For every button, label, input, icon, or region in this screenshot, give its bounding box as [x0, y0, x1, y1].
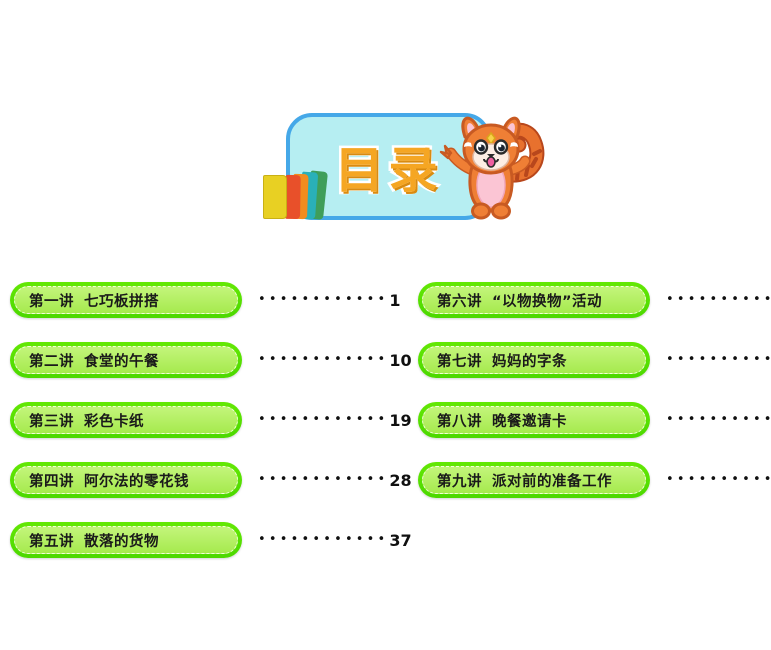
- toc-entry-title: 妈妈的字条: [492, 354, 567, 370]
- toc-pill[interactable]: 第六讲“以物换物”活动: [418, 282, 650, 318]
- toc-entry[interactable]: 第七讲妈妈的字条 •••••••••••• 55: [418, 330, 771, 390]
- toc-entry[interactable]: 第一讲七巧板拼搭 •••••••••••• 1: [10, 270, 370, 330]
- leader-dots: ••••••••••••: [258, 533, 388, 546]
- toc-lecture-number: 第一讲: [29, 294, 74, 310]
- toc-lecture-number: 第九讲: [437, 474, 482, 490]
- toc-leader: •••••••••••• 37: [258, 522, 412, 558]
- toc-leader: •••••••••••• 1: [258, 282, 401, 318]
- header-banner: 目录: [0, 95, 771, 240]
- toc-page-number: 19: [389, 411, 411, 430]
- book-yellow-icon: [263, 175, 287, 219]
- toc-entry[interactable]: 第二讲食堂的午餐 •••••••••••• 10: [10, 330, 370, 390]
- toc-lecture-number: 第五讲: [29, 534, 74, 550]
- toc-pill[interactable]: 第九讲派对前的准备工作: [418, 462, 650, 498]
- toc-page-number: 10: [389, 351, 411, 370]
- leader-dots: ••••••••••••: [666, 473, 771, 486]
- toc-entry-label: 第六讲“以物换物”活动: [437, 290, 602, 311]
- toc-entry-label: 第四讲阿尔法的零花钱: [29, 470, 189, 491]
- toc-entry[interactable]: 第九讲派对前的准备工作 •••••••••••• 73: [418, 450, 771, 510]
- red-panda-mascot-icon: [437, 105, 545, 225]
- page-root: 目录: [0, 0, 771, 650]
- toc-pill-inner: 第三讲彩色卡纸: [14, 406, 238, 434]
- toc-entry-label: 第一讲七巧板拼搭: [29, 290, 159, 311]
- toc-lecture-number: 第二讲: [29, 354, 74, 370]
- toc-entry-label: 第五讲散落的货物: [29, 530, 159, 551]
- toc-entry-label: 第三讲彩色卡纸: [29, 410, 144, 431]
- toc-pill-inner: 第七讲妈妈的字条: [422, 346, 646, 374]
- toc-entry-title: 晚餐邀请卡: [492, 414, 567, 430]
- toc-entry-title: 食堂的午餐: [84, 354, 159, 370]
- leader-dots: ••••••••••••: [666, 293, 771, 306]
- toc-pill[interactable]: 第三讲彩色卡纸: [10, 402, 242, 438]
- leader-dots: ••••••••••••: [258, 473, 388, 486]
- toc-pill-inner: 第五讲散落的货物: [14, 526, 238, 554]
- toc-entry-title: 七巧板拼搭: [84, 294, 159, 310]
- toc-pill-inner: 第六讲“以物换物”活动: [422, 286, 646, 314]
- toc-pill[interactable]: 第二讲食堂的午餐: [10, 342, 242, 378]
- toc-entry[interactable]: 第五讲散落的货物 •••••••••••• 37: [10, 510, 370, 570]
- toc-pill-inner: 第一讲七巧板拼搭: [14, 286, 238, 314]
- toc-pill-inner: 第四讲阿尔法的零花钱: [14, 466, 238, 494]
- leader-dots: ••••••••••••: [666, 413, 771, 426]
- toc-leader: •••••••••••• 10: [258, 342, 412, 378]
- toc-entry[interactable]: 第四讲阿尔法的零花钱 •••••••••••• 28: [10, 450, 370, 510]
- toc-leader: •••••••••••• 64: [666, 402, 771, 438]
- toc-leader: •••••••••••• 46: [666, 282, 771, 318]
- toc-entry-title: 散落的货物: [84, 534, 159, 550]
- toc-entry-title: 彩色卡纸: [84, 414, 144, 430]
- toc-pill-inner: 第二讲食堂的午餐: [14, 346, 238, 374]
- toc-leader: •••••••••••• 28: [258, 462, 412, 498]
- toc-pill[interactable]: 第八讲晚餐邀请卡: [418, 402, 650, 438]
- toc-entry-label: 第二讲食堂的午餐: [29, 350, 159, 371]
- toc-page-number: 1: [389, 291, 400, 310]
- toc-leader: •••••••••••• 55: [666, 342, 771, 378]
- leader-dots: ••••••••••••: [258, 293, 388, 306]
- toc-page-number: 28: [389, 471, 411, 490]
- toc-entry-title: 阿尔法的零花钱: [84, 474, 189, 490]
- toc-entry-title: “以物换物”活动: [492, 294, 602, 310]
- toc-lecture-number: 第八讲: [437, 414, 482, 430]
- toc-entry-label: 第八讲晚餐邀请卡: [437, 410, 567, 431]
- toc-pill[interactable]: 第七讲妈妈的字条: [418, 342, 650, 378]
- leader-dots: ••••••••••••: [258, 353, 388, 366]
- toc-lecture-number: 第四讲: [29, 474, 74, 490]
- toc-pill-inner: 第八讲晚餐邀请卡: [422, 406, 646, 434]
- toc-pill[interactable]: 第四讲阿尔法的零花钱: [10, 462, 242, 498]
- toc-page-number: 37: [389, 531, 411, 550]
- toc-pill[interactable]: 第一讲七巧板拼搭: [10, 282, 242, 318]
- toc-entry[interactable]: 第六讲“以物换物”活动 •••••••••••• 46: [418, 270, 771, 330]
- toc-column-left: 第一讲七巧板拼搭 •••••••••••• 1 第二讲食堂的午餐 •••••••…: [10, 270, 370, 570]
- toc-pill[interactable]: 第五讲散落的货物: [10, 522, 242, 558]
- toc-entry[interactable]: 第八讲晚餐邀请卡 •••••••••••• 64: [418, 390, 771, 450]
- toc-column-right: 第六讲“以物换物”活动 •••••••••••• 46 第七讲妈妈的字条 •••…: [418, 270, 771, 510]
- toc-lecture-number: 第六讲: [437, 294, 482, 310]
- toc-entry-label: 第七讲妈妈的字条: [437, 350, 567, 371]
- toc-entry-title: 派对前的准备工作: [492, 474, 612, 490]
- toc-pill-inner: 第九讲派对前的准备工作: [422, 466, 646, 494]
- leader-dots: ••••••••••••: [666, 353, 771, 366]
- toc-lecture-number: 第三讲: [29, 414, 74, 430]
- toc-lecture-number: 第七讲: [437, 354, 482, 370]
- toc-entry[interactable]: 第三讲彩色卡纸 •••••••••••• 19: [10, 390, 370, 450]
- toc-leader: •••••••••••• 19: [258, 402, 412, 438]
- leader-dots: ••••••••••••: [258, 413, 388, 426]
- toc-entry-label: 第九讲派对前的准备工作: [437, 470, 612, 491]
- toc-leader: •••••••••••• 73: [666, 462, 771, 498]
